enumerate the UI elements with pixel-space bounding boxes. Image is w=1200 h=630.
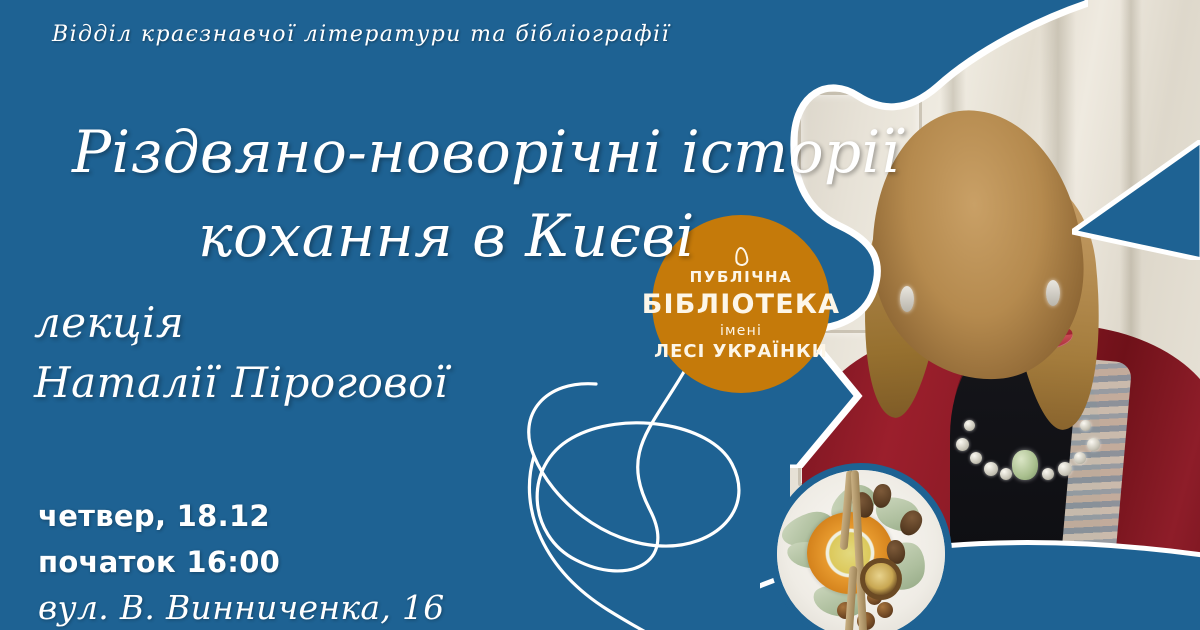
event-date: четвер, 18.12 — [38, 499, 270, 533]
logo-line-named: імені — [720, 324, 762, 338]
logo-line-public: ПУБЛІЧНА — [690, 270, 793, 285]
page-title-line-2: кохання в Києві — [0, 202, 790, 270]
berry — [877, 602, 893, 618]
logo-line-lesya-ukrainka: ЛЕСІ УКРАЇНКИ — [654, 343, 828, 361]
christmas-ornament-photo — [770, 463, 952, 630]
page-title-line-1: Різдвяно-новорічні історії — [0, 118, 790, 186]
photo-edge-wedge — [1072, 140, 1200, 260]
lecture-label: лекція — [34, 298, 184, 347]
photo-blue-mask — [790, 0, 1088, 468]
speaker-name: Наталії Пірогової — [34, 358, 448, 407]
ornament-medallion — [860, 558, 902, 600]
event-start-time: початок 16:00 — [38, 545, 280, 579]
event-address: вул. В. Винниченка, 16 — [38, 588, 445, 627]
department-label: Відділ краєзнавчої літератури та бібліог… — [52, 22, 670, 47]
poster-canvas: ПУБЛІЧНА БІБЛІОТЕКА імені ЛЕСІ УКРАЇНКИ … — [0, 0, 1200, 630]
logo-line-library: БІБЛІОТЕКА — [642, 291, 840, 318]
